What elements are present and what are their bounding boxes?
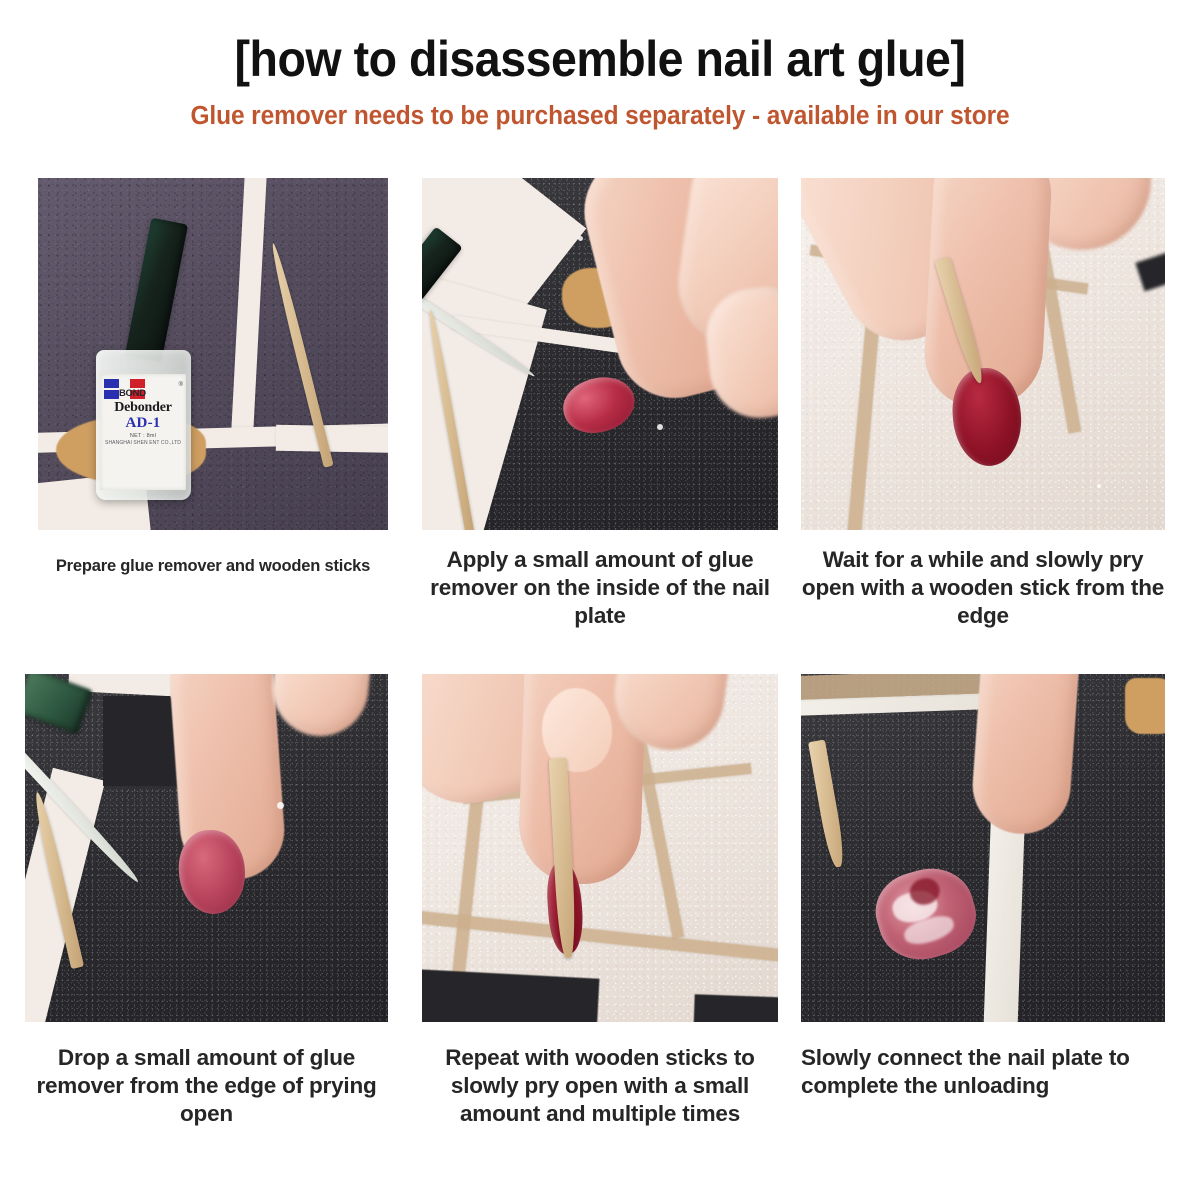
step-caption-3: Wait for a while and slowly pry open wit… — [801, 546, 1165, 630]
glue-remover-bottle-and-wooden-stick-photo: BOND ® Debonder AD-1 NET : 8ml SHANGHAI … — [38, 178, 388, 530]
logo-flag-blue-1 — [104, 379, 119, 388]
step-card-5: Repeat with wooden sticks to slowly pry … — [422, 674, 778, 1128]
step-caption-4: Drop a small amount of glue remover from… — [25, 1044, 388, 1128]
registered-mark-icon: ® — [179, 382, 183, 388]
step-card-1: BOND ® Debonder AD-1 NET : 8ml SHANGHAI … — [38, 178, 388, 576]
step-card-3: Wait for a while and slowly pry open wit… — [801, 178, 1165, 630]
tan-patch-corner — [1125, 678, 1165, 734]
step-caption-1: Prepare glue remover and wooden sticks — [38, 556, 388, 576]
repeat-prying-with-wooden-stick-photo — [422, 674, 778, 1022]
steps-row-bottom: Drop a small amount of glue remover from… — [0, 674, 1200, 1148]
step-card-2: Apply a small amount of glue remover on … — [422, 178, 778, 630]
steps-grid: BOND ® Debonder AD-1 NET : 8ml SHANGHAI … — [0, 178, 1200, 1148]
glue-bottle-label: BOND ® Debonder AD-1 NET : 8ml SHANGHAI … — [100, 374, 186, 490]
speck-dot — [657, 424, 663, 430]
net-volume: NET : 8ml — [100, 433, 186, 439]
brand-text: BOND — [119, 388, 146, 399]
dark-patch-bottom-right — [693, 994, 778, 1022]
step-caption-2: Apply a small amount of glue remover on … — [422, 546, 778, 630]
white-tape-band-vertical — [983, 817, 1025, 1022]
infographic-page: [how to disassemble nail art glue] Glue … — [0, 0, 1200, 1200]
page-title: [how to disassemble nail art glue] — [42, 33, 1158, 86]
page-subtitle: Glue remover needs to be purchased separ… — [24, 102, 1176, 131]
header: [how to disassemble nail art glue] Glue … — [0, 0, 1200, 131]
step-card-6: Slowly connect the nail plate to complet… — [801, 674, 1165, 1100]
step-card-4: Drop a small amount of glue remover from… — [25, 674, 388, 1128]
cream-band-right — [276, 425, 388, 453]
step-caption-6: Slowly connect the nail plate to complet… — [801, 1044, 1165, 1100]
applying-glue-remover-photo — [422, 178, 778, 530]
logo-flag-blue-2 — [104, 390, 119, 399]
speck-dot — [1097, 484, 1101, 488]
step-caption-5: Repeat with wooden sticks to slowly pry … — [422, 1044, 778, 1128]
product-code: AD-1 — [100, 415, 186, 432]
logo-flag-red-1 — [130, 379, 145, 388]
product-name: Debonder — [100, 400, 186, 416]
dropping-glue-remover-at-edge-photo — [25, 674, 388, 1022]
brand-logo: BOND ® — [100, 379, 186, 399]
steps-row-top: BOND ® Debonder AD-1 NET : 8ml SHANGHAI … — [0, 178, 1200, 652]
prying-nail-with-wooden-stick-photo — [801, 178, 1165, 530]
dark-patch-bottom-left — [422, 969, 599, 1022]
removed-nail-plate-photo — [801, 674, 1165, 1022]
speck-dot — [578, 236, 583, 241]
company-name: SHANGHAI SHEN ENT CO.,LTD — [100, 440, 186, 446]
speck-dot — [277, 802, 284, 809]
